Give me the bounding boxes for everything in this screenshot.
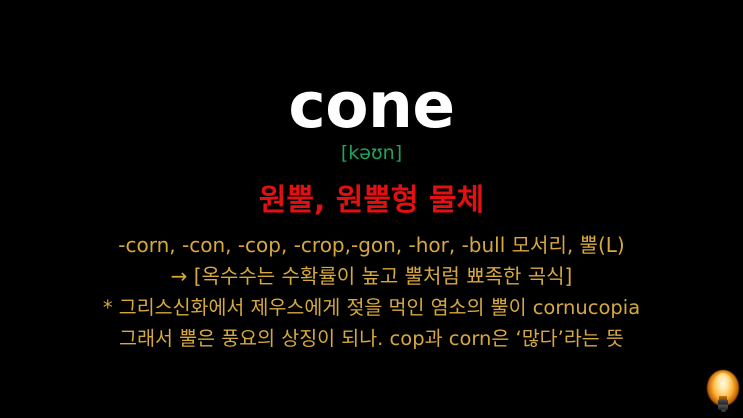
lightbulb-tip: [721, 409, 726, 412]
headword: cone: [0, 74, 743, 137]
etymology-notes: -corn, -con, -cop, -crop,-gon, -hor, -bu…: [0, 230, 743, 354]
etymology-arrow-line: → [옥수수는 수확률이 높고 뿔처럼 뾰족한 곡식]: [0, 261, 743, 292]
phonetic-transcription: [kəʊn]: [0, 142, 743, 165]
etymology-myth-line: * 그리스신화에서 제우스에게 젖을 먹인 염소의 뿔이 cornucopia: [0, 292, 743, 323]
lightbulb-icon: [707, 370, 739, 416]
slide-canvas: cone [kəʊn] 원뿔, 원뿔형 물체 -corn, -con, -cop…: [0, 0, 743, 418]
etymology-roots-line: -corn, -con, -cop, -crop,-gon, -hor, -bu…: [0, 230, 743, 261]
korean-definition: 원뿔, 원뿔형 물체: [0, 183, 743, 219]
etymology-conclusion-line: 그래서 뿔은 풍요의 상징이 되나. cop과 corn은 ‘많다’라는 뜻: [0, 323, 743, 354]
